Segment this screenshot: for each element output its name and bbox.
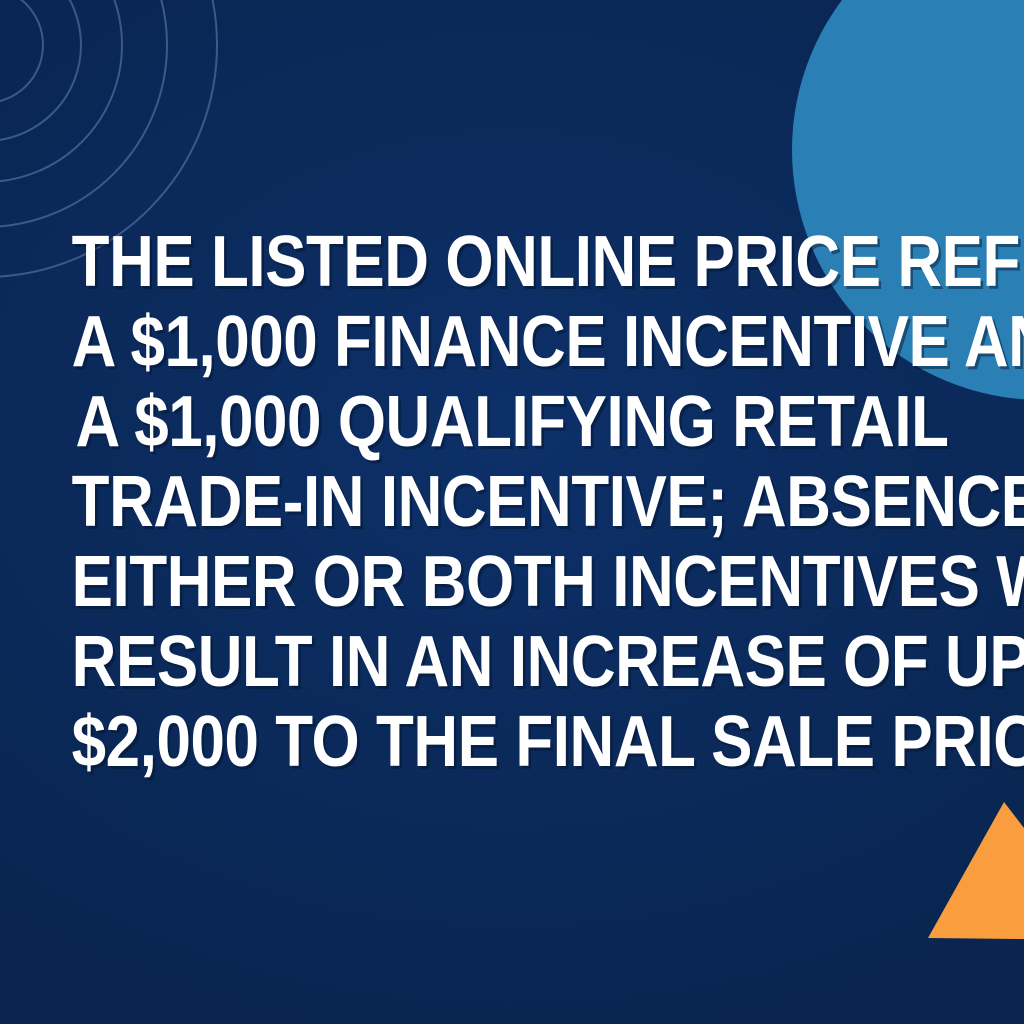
disclaimer-line-1: THE LISTED ONLINE PRICE REFLECTS xyxy=(72,222,953,302)
disclaimer-line-5: EITHER OR BOTH INCENTIVES WILL xyxy=(72,542,953,622)
promotional-disclaimer-graphic: THE LISTED ONLINE PRICE REFLECTS A $1,00… xyxy=(0,0,1024,1024)
disclaimer-line-2: A $1,000 FINANCE INCENTIVE AND xyxy=(72,302,953,382)
disclaimer-line-6: RESULT IN AN INCREASE OF UP TO xyxy=(72,622,953,702)
disclaimer-headline: THE LISTED ONLINE PRICE REFLECTS A $1,00… xyxy=(72,222,953,782)
disclaimer-line-4: TRADE-IN INCENTIVE; ABSENCE OF xyxy=(72,462,953,542)
disclaimer-line-7: $2,000 TO THE FINAL SALE PRICE. xyxy=(72,702,953,782)
orange-triangle-decoration xyxy=(920,798,1024,940)
disclaimer-line-3: A $1,000 QUALIFYING RETAIL xyxy=(72,382,953,462)
